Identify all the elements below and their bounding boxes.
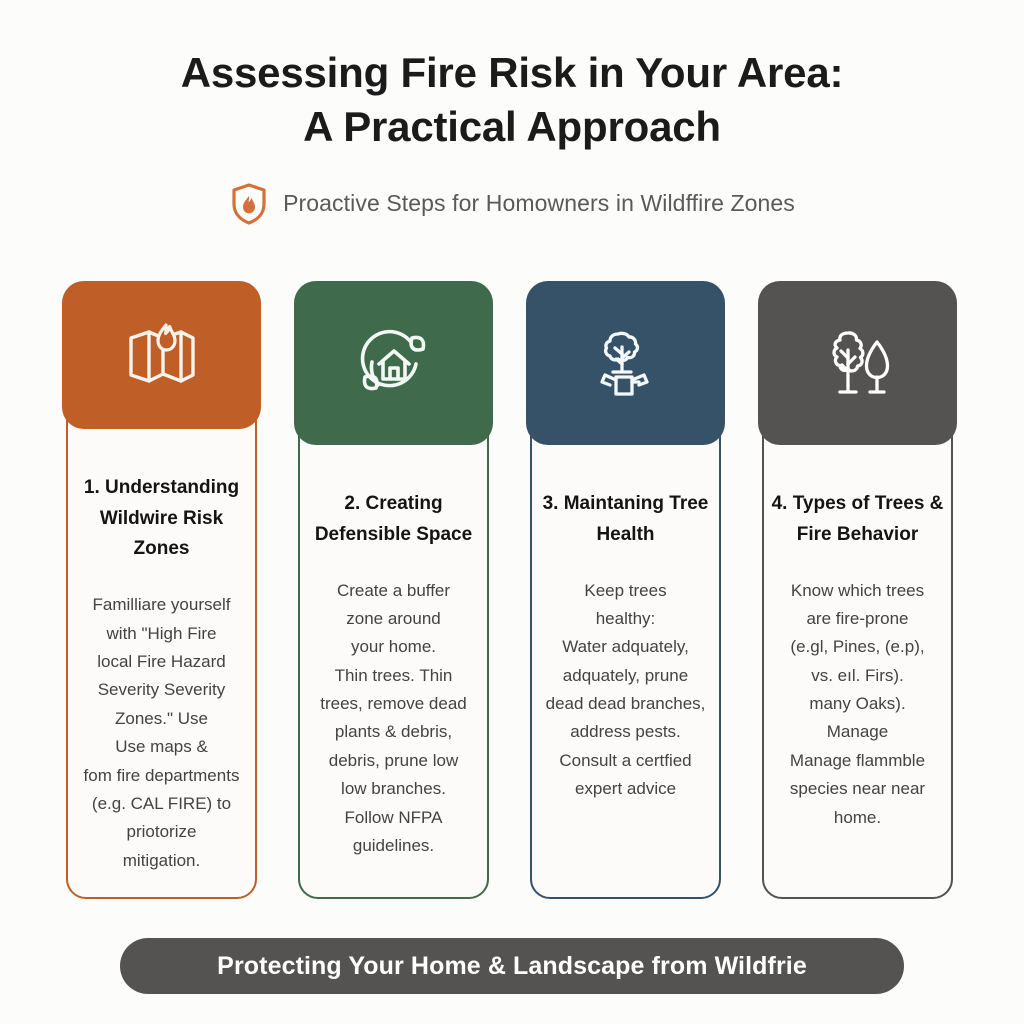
card-header: [294, 281, 493, 445]
footer-banner-text: Protecting Your Home & Landscape from Wi…: [217, 952, 807, 981]
subtitle: Proactive Steps for Homowners in Wildffi…: [283, 190, 795, 217]
card-title: 4. Types of Trees & Fire Behavior: [771, 489, 944, 551]
card-creating-defensible-space[interactable]: 2. Creating Defensible Space Create a bu…: [294, 281, 493, 899]
card-maintaining-tree-health[interactable]: 3. Maintaning Tree Health Keep trees hea…: [526, 281, 725, 899]
card-text: Know which trees are fire-prone (e.gl, P…: [790, 577, 925, 832]
card-title: 1. Understanding Wildwire Risk Zones: [75, 473, 248, 565]
infographic-header: Assessing Fire Risk in Your Area: A Prac…: [0, 0, 1024, 226]
two-trees-icon: [815, 320, 901, 406]
card-body: 3. Maintaning Tree Health Keep trees hea…: [526, 445, 725, 899]
card-title: 2. Creating Defensible Space: [307, 489, 480, 551]
card-types-of-trees-and-fire-behavior[interactable]: 4. Types of Trees & Fire Behavior Know w…: [758, 281, 957, 899]
footer-banner: Protecting Your Home & Landscape from Wi…: [120, 938, 904, 994]
card-body: 2. Creating Defensible Space Create a bu…: [294, 445, 493, 899]
card-body: 4. Types of Trees & Fire Behavior Know w…: [758, 445, 957, 899]
page-title-line-1: Assessing Fire Risk in Your Area:: [0, 46, 1024, 100]
card-body: 1. Understanding Wildwire Risk Zones Fam…: [62, 429, 261, 899]
map-flame-icon: [119, 312, 205, 398]
card-text: Familliare yourself with "High Fire loca…: [84, 591, 240, 875]
card-header: [62, 281, 261, 429]
subtitle-row: Proactive Steps for Homowners in Wildffi…: [0, 182, 1024, 226]
card-list: 1. Understanding Wildwire Risk Zones Fam…: [62, 281, 964, 899]
card-title: 3. Maintaning Tree Health: [539, 489, 712, 551]
card-header: [758, 281, 957, 445]
page-title: Assessing Fire Risk in Your Area: A Prac…: [0, 46, 1024, 154]
page-title-line-2: A Practical Approach: [0, 100, 1024, 154]
tree-watering-can-icon: [583, 320, 669, 406]
shield-flame-icon: [229, 182, 269, 226]
card-header: [526, 281, 725, 445]
card-text: Create a buffer zone around your home. T…: [320, 577, 466, 861]
card-text: Keep trees healthy: Water adquately, adq…: [546, 577, 706, 804]
home-leaves-circle-icon: [351, 320, 437, 406]
card-understanding-wildfire-risk-zones[interactable]: 1. Understanding Wildwire Risk Zones Fam…: [62, 281, 261, 899]
